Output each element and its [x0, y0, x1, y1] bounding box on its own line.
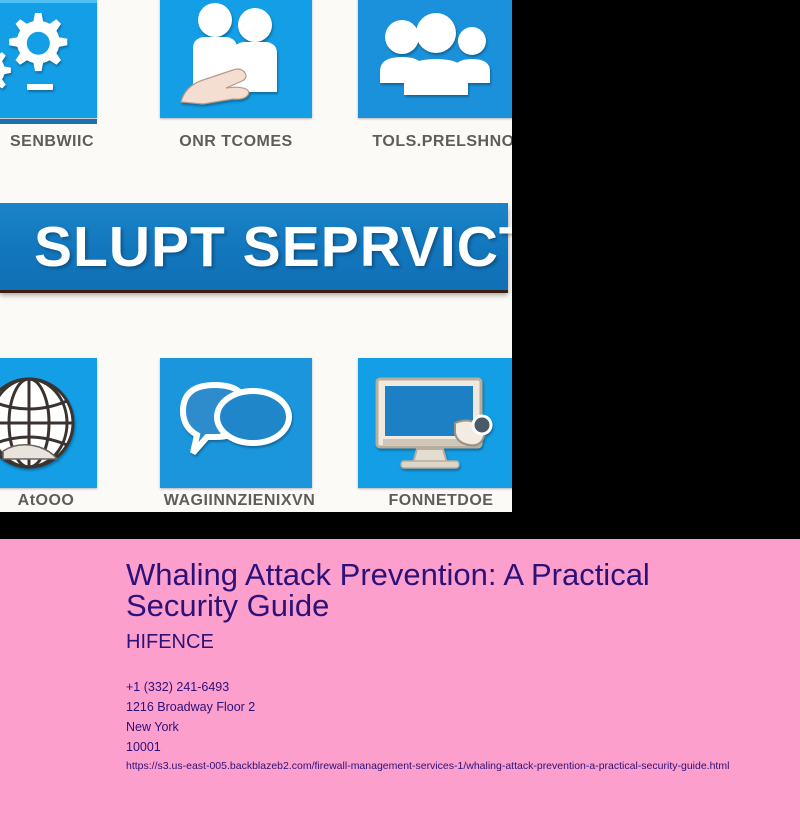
contact-postal-code: 10001 [126, 737, 255, 757]
contact-phone: +1 (332) 241-6493 [126, 677, 255, 697]
gears-settings-tile [0, 0, 97, 118]
hero-region: SENBWIIC [0, 0, 800, 539]
hero-banner: SLUPT SEPRVICT [0, 203, 508, 290]
globe-network-tile [0, 358, 97, 488]
hero-tile-caption: FONNETDOE [356, 492, 512, 510]
hero-tile-caption: TOLS.PRELSHNO [356, 133, 512, 151]
hero-tile-caption: AtOOO [0, 492, 106, 510]
desktop-monitor-tile [358, 358, 512, 488]
gears-settings-icon [0, 0, 97, 118]
hero-banner-text: SLUPT SEPRVICT [34, 214, 512, 280]
handshake-people-tile [160, 0, 312, 118]
desktop-monitor-icon [358, 358, 512, 488]
tile-bottom-bar [0, 119, 97, 124]
handshake-people-icon [160, 0, 312, 118]
speech-bubbles-icon [160, 358, 312, 488]
contact-city: New York [126, 717, 255, 737]
page-title: Whaling Attack Prevention: A Practical S… [126, 559, 726, 621]
hero-illustration: SENBWIIC [0, 0, 512, 512]
speech-bubbles-tile [160, 358, 312, 488]
contact-street: 1216 Broadway Floor 2 [126, 697, 255, 717]
content-area: Whaling Attack Prevention: A Practical S… [0, 539, 800, 840]
hero-tile-caption: SENBWIIC [0, 133, 112, 151]
hero-tile-caption: ONR TCOMES [160, 133, 312, 151]
brand-name: HIFENCE [126, 631, 214, 654]
hero-tile-caption: WAGIINNZIENIXVN [152, 492, 327, 510]
contact-block: +1 (332) 241-6493 1216 Broadway Floor 2 … [126, 677, 255, 757]
people-group-tile [358, 0, 512, 118]
people-group-icon [358, 0, 512, 118]
source-url-link[interactable]: https://s3.us-east-005.backblazeb2.com/f… [126, 759, 729, 773]
globe-network-icon [0, 358, 97, 488]
